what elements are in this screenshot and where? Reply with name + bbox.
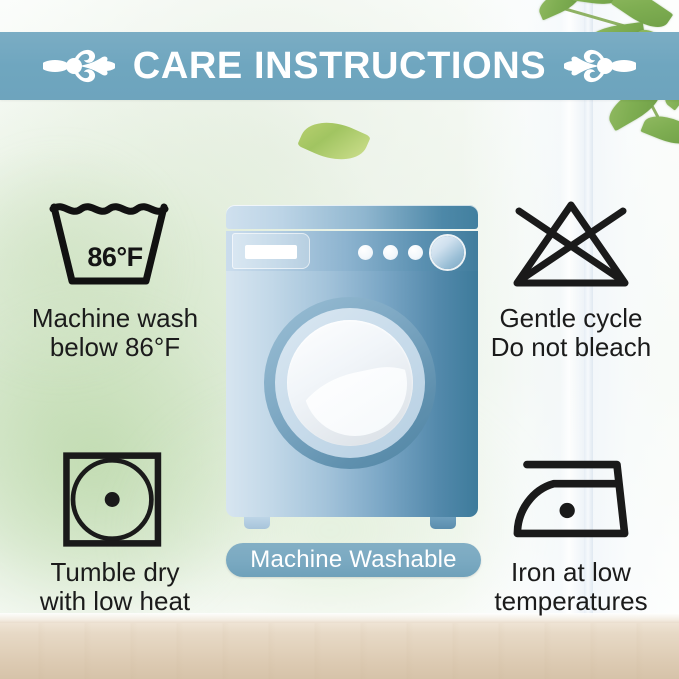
foliage-cluster-icon: [539, 0, 679, 202]
tumble-dry-icon: [10, 440, 220, 558]
wash-tub-icon: 86°F: [10, 186, 220, 304]
care-symbol-tumble-dry: Tumble dry with low heat: [10, 440, 220, 616]
detergent-drawer: [232, 233, 310, 269]
header-banner: CARE INSTRUCTIONS: [0, 32, 679, 100]
washer-top-lid: [226, 205, 478, 229]
washer-foot-right: [430, 517, 456, 529]
washer-door-glass-reflection: [303, 332, 407, 436]
detergent-drawer-slot: [245, 245, 297, 259]
washing-machine-illustration: [226, 205, 478, 535]
page-title: CARE INSTRUCTIONS: [133, 47, 546, 85]
washer-door-inner: [287, 320, 413, 446]
washer-foot-left: [244, 517, 270, 529]
washer-door-mid-ring: [275, 308, 425, 458]
crossed-triangle-icon: [466, 186, 676, 304]
washer-button: [358, 245, 373, 260]
care-label-machine-wash: Machine wash below 86°F: [10, 304, 220, 362]
care-label-tumble-dry: Tumble dry with low heat: [10, 558, 220, 616]
care-symbol-iron-low: Iron at low temperatures: [466, 440, 676, 616]
care-instructions-infographic: CARE INSTRUCTIONS 86°F: [0, 0, 679, 679]
fleur-de-lis-left-icon: [43, 43, 115, 89]
care-label-do-not-bleach: Gentle cycle Do not bleach: [466, 304, 676, 362]
washer-door-outer-ring: [264, 297, 436, 469]
care-label-iron-low: Iron at low temperatures: [466, 558, 676, 616]
wood-grain-texture: [0, 623, 679, 679]
washer-button: [408, 245, 423, 260]
machine-washable-badge: Machine Washable: [226, 543, 481, 577]
washer-dial-knob: [431, 236, 464, 269]
wash-temperature-value: 86°F: [45, 242, 185, 273]
washer-button: [383, 245, 398, 260]
fleur-de-lis-right-icon: [564, 43, 636, 89]
machine-washable-badge-label: Machine Washable: [250, 546, 456, 574]
iron-icon: [466, 440, 676, 558]
care-symbol-machine-wash: 86°F Machine wash below 86°F: [10, 186, 220, 362]
washer-button-group: [358, 245, 423, 260]
care-symbol-do-not-bleach: Gentle cycle Do not bleach: [466, 186, 676, 362]
